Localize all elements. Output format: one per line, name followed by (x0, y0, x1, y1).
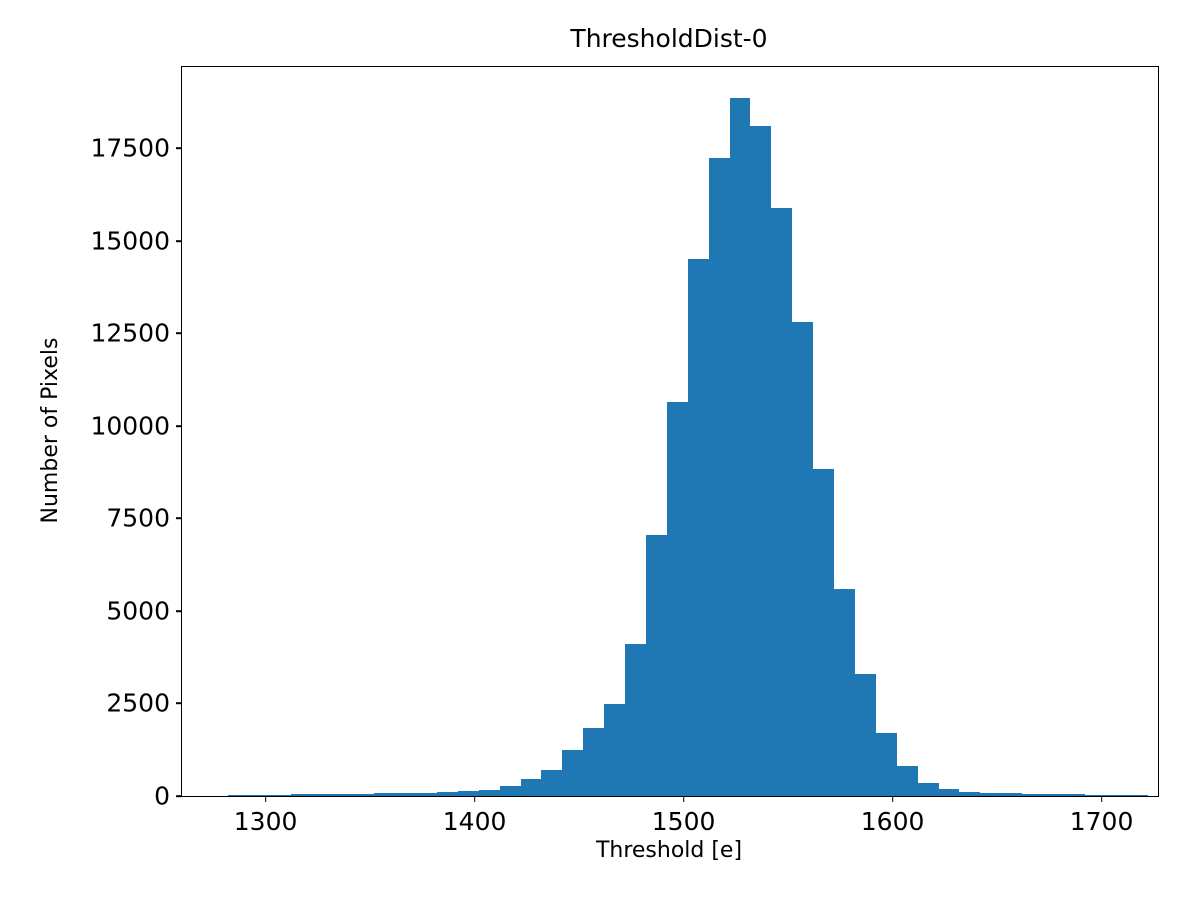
histogram-bar (688, 259, 709, 796)
y-tick-mark (176, 240, 182, 242)
x-tick-label: 1700 (1070, 807, 1134, 836)
y-tick-label: 5000 (106, 596, 170, 625)
histogram-bar (667, 402, 688, 796)
histogram-bar (500, 786, 521, 796)
histogram-bar (625, 644, 646, 796)
histogram-bar (980, 793, 1001, 796)
histogram-bar (270, 795, 291, 796)
histogram-bar (583, 728, 604, 796)
histogram-bar (437, 792, 458, 796)
histogram-bar (813, 469, 834, 796)
histogram-bar (855, 674, 876, 796)
histogram-bar (228, 795, 249, 796)
histogram-bar (918, 783, 939, 796)
y-tick-label: 7500 (106, 504, 170, 533)
y-tick-mark (176, 333, 182, 335)
histogram-bar (730, 98, 751, 796)
y-tick-label: 15000 (90, 226, 170, 255)
histogram-bar (353, 794, 374, 796)
histogram-bar (1043, 794, 1064, 796)
histogram-bar (312, 794, 333, 796)
y-tick-mark (176, 795, 182, 797)
histogram-bar (750, 126, 771, 796)
y-tick-mark (176, 610, 182, 612)
y-tick-mark (176, 425, 182, 427)
histogram-bar (521, 779, 542, 796)
histogram-bar (709, 158, 730, 796)
histogram-bar (646, 535, 667, 796)
y-tick-label: 0 (154, 782, 170, 811)
figure-canvas: ThresholdDist-0 13001400150016001700 025… (0, 0, 1200, 900)
page-title: ThresholdDist-0 (181, 24, 1157, 54)
histogram-bar (458, 791, 479, 796)
histogram-bar (897, 766, 918, 796)
y-tick-label: 12500 (90, 319, 170, 348)
x-tick-mark (1101, 796, 1103, 802)
x-tick-mark (265, 796, 267, 802)
histogram-bar (1085, 795, 1106, 796)
y-tick-label: 17500 (90, 134, 170, 163)
x-tick-mark (683, 796, 685, 802)
x-tick-label: 1600 (861, 807, 925, 836)
histogram-bar (1127, 795, 1148, 796)
histogram-bar (1001, 793, 1022, 796)
y-tick-label: 10000 (90, 411, 170, 440)
y-tick-label: 2500 (106, 689, 170, 718)
y-tick-mark (176, 518, 182, 520)
x-tick-label: 1300 (234, 807, 298, 836)
histogram-bar (332, 794, 353, 796)
plot-area: 13001400150016001700 0250050007500100001… (181, 66, 1159, 797)
y-axis-label: Number of Pixels (38, 66, 63, 795)
histogram-bar (1106, 795, 1127, 796)
histogram-bar (939, 789, 960, 796)
x-tick-mark (474, 796, 476, 802)
y-tick-mark (176, 148, 182, 150)
histogram-bar (395, 793, 416, 796)
y-tick-mark (176, 703, 182, 705)
x-axis-label: Threshold [e] (181, 838, 1157, 863)
histogram-bar (249, 795, 270, 796)
histogram-bar (541, 770, 562, 796)
x-tick-label: 1500 (652, 807, 716, 836)
histogram-bars (182, 67, 1158, 796)
histogram-bar (416, 793, 437, 797)
histogram-bar (604, 704, 625, 797)
histogram-bar (959, 792, 980, 796)
histogram-bar (771, 208, 792, 796)
histogram-bar (1064, 794, 1085, 796)
histogram-bar (562, 750, 583, 796)
histogram-bar (834, 589, 855, 796)
histogram-bar (291, 794, 312, 796)
histogram-bar (479, 790, 500, 796)
histogram-bar (876, 733, 897, 796)
x-tick-mark (892, 796, 894, 802)
histogram-bar (374, 793, 395, 796)
histogram-bar (792, 322, 813, 796)
x-tick-label: 1400 (443, 807, 507, 836)
histogram-bar (1022, 794, 1043, 796)
